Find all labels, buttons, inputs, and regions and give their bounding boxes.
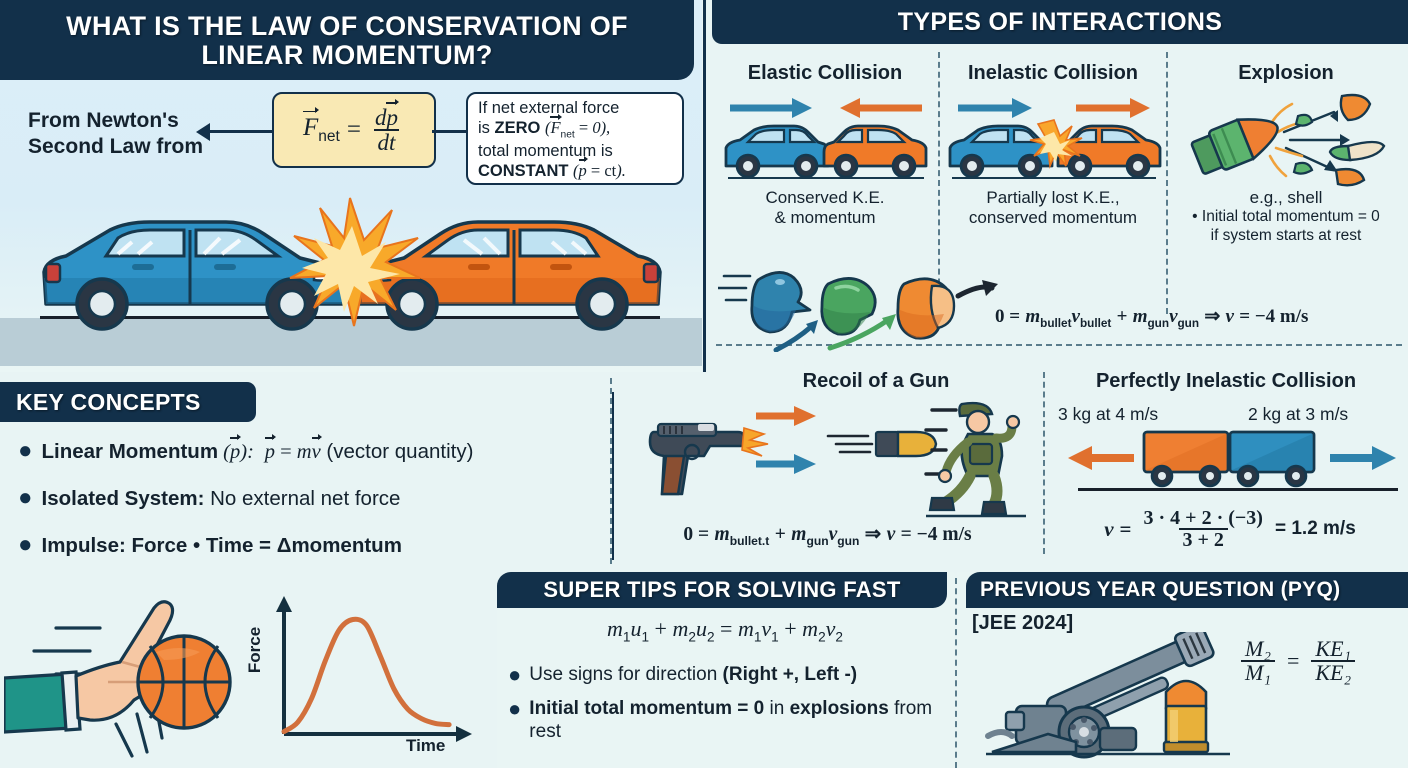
pie-denominator: 3 + 2 xyxy=(1179,528,1228,550)
pyq-lhs-num: M₂ xyxy=(1241,638,1275,660)
two-cars-colliding-icon xyxy=(946,96,1162,182)
newton-arrow-shaft xyxy=(205,130,273,133)
vertical-divider-recoil xyxy=(1043,372,1045,554)
callout-line2: is ZERO (Fnet = 0), xyxy=(478,118,672,141)
callout-p-math: (p = ct). xyxy=(573,161,626,180)
head-on-collision-illustration xyxy=(14,186,690,336)
newton-arrow-head-icon xyxy=(196,123,210,141)
pyq-rhs-den: KE₂ xyxy=(1311,660,1355,684)
cannon-and-shell-illustration xyxy=(980,632,1236,764)
pistol-icon xyxy=(650,424,768,494)
pie-result: = 1.2 m/s xyxy=(1275,518,1356,540)
arrow-left-orange-icon xyxy=(1068,446,1134,470)
chart-ylabel: Force xyxy=(245,627,265,673)
arrow-right-blue-icon xyxy=(1330,446,1396,470)
arrow-right-blue-icon xyxy=(756,454,816,474)
from-newton-label: From Newton's Second Law from xyxy=(28,108,243,161)
perfectly-inelastic-left-label: 3 kg at 4 m/s xyxy=(1058,404,1158,425)
arrow-right-blue-icon xyxy=(958,98,1032,118)
vertical-divider-main xyxy=(703,0,706,372)
super-tip-item-1: ● Use signs for direction (Right +, Left… xyxy=(508,664,953,687)
bullet-icon xyxy=(876,432,936,456)
two-carts-colliding-icon xyxy=(1058,426,1406,492)
formula-fnet: Fnet xyxy=(303,114,340,146)
chart-xlabel: Time xyxy=(406,736,445,756)
perfectly-inelastic-equation: v= 3 · 4 + 2 · (−3) 3 + 2 = 1.2 m/s xyxy=(1060,508,1400,551)
bullet-dot-icon: ● xyxy=(18,533,33,557)
y-axis-arrow-icon xyxy=(276,596,292,612)
callout-line4: CONSTANT (p = ct). xyxy=(478,161,672,181)
pie-numerator: 3 · 4 + 2 · (−3) xyxy=(1140,508,1267,528)
formula-connector-line xyxy=(432,130,468,133)
zero-net-force-callout: If net external force is ZERO (Fnet = 0)… xyxy=(466,92,684,185)
page-title-line1: WHAT IS THE LAW OF CONSERVATION OF xyxy=(66,12,628,41)
recoil-of-gun-illustration xyxy=(640,398,1030,520)
page-title: WHAT IS THE LAW OF CONSERVATION OF LINEA… xyxy=(0,0,694,80)
pyq-rhs-num: KE₁ xyxy=(1311,638,1355,660)
column-heading-elastic: Elastic Collision xyxy=(716,62,934,85)
column-caption-inelastic: Partially lost K.E., conserved momentum xyxy=(944,188,1162,229)
vertical-divider-col2 xyxy=(1166,52,1168,314)
perfectly-inelastic-heading: Perfectly Inelastic Collision xyxy=(1050,370,1402,393)
bullet-dot-icon: ● xyxy=(18,439,33,463)
exploding-shell-icon xyxy=(1188,90,1388,188)
hand-catching-basketball-illustration xyxy=(4,596,242,766)
callout-line3: total momentum is xyxy=(478,142,672,161)
pyq-equation: M₂ M₁ = KE₁ KE₂ xyxy=(1238,638,1388,685)
arrow-right-orange-icon xyxy=(756,406,816,426)
pyq-lhs-den: M₁ xyxy=(1241,660,1275,684)
two-cars-approaching-icon xyxy=(718,96,934,182)
column-caption-elastic: Conserved K.E. & momentum xyxy=(716,188,934,229)
shell-icon xyxy=(1164,681,1208,752)
arrow-left-orange-icon xyxy=(840,98,922,118)
callout-fnet-math: (Fnet = 0), xyxy=(545,118,610,137)
bullet-dot-icon: ● xyxy=(18,486,33,510)
vertical-divider-middle xyxy=(612,392,614,560)
column-heading-inelastic: Inelastic Collision xyxy=(944,62,1162,85)
bullet-dot-icon: ● xyxy=(508,664,521,686)
key-concept-item-2: ● Isolated System: No external net force xyxy=(18,487,608,512)
key-concepts-title: KEY CONCEPTS xyxy=(0,382,256,422)
from-newton-line2: Second Law from xyxy=(28,134,243,160)
newton-second-law-formula-box: Fnet = dp dt xyxy=(272,92,436,168)
key-concept-item-1: ● Linear Momentum (p): p = mv (vector qu… xyxy=(18,440,608,465)
bullet-dot-icon: ● xyxy=(508,698,521,720)
force-time-plot xyxy=(248,594,488,768)
super-tips-equation: m1u1 + m2u2 = m1v1 + m2v2 xyxy=(505,616,945,644)
page-title-line2: LINEAR MOMENTUM? xyxy=(201,41,492,70)
recoil-heading: Recoil of a Gun xyxy=(716,370,1036,393)
callout-line1: If net external force xyxy=(478,99,672,118)
perfectly-inelastic-right-label: 2 kg at 3 m/s xyxy=(1248,404,1348,425)
vertical-divider-left-dashed xyxy=(610,378,612,564)
arrow-right-orange-icon xyxy=(1076,98,1150,118)
column-heading-explosion: Explosion xyxy=(1172,62,1400,85)
key-concept-math-1: p = mv xyxy=(260,441,321,463)
super-tip-item-2: ● Initial total momentum = 0 in explosio… xyxy=(508,698,943,744)
cart-ground-line xyxy=(1078,488,1398,491)
explosion-equation: 0 = mbulletvbullet + mgunvgun ⇒ v = −4 m… xyxy=(995,305,1395,330)
momentum-transfer-blobs-illustration xyxy=(718,262,998,352)
soldier-recoiling-icon xyxy=(926,403,1026,516)
key-concept-item-3: ● Impulse: Force • Time = Δmomentum xyxy=(18,534,608,559)
column-caption-explosion: e.g., shell • Initial total momentum = 0… xyxy=(1168,188,1404,246)
x-axis-arrow-icon xyxy=(456,726,472,742)
recoil-equation: 0 = mbullet.t + mgunvgun ⇒ v = −4 m/s xyxy=(620,522,1035,548)
super-tips-title: SUPER TIPS FOR SOLVING FAST xyxy=(497,572,947,608)
formula-dp-dt: dp dt xyxy=(371,106,402,155)
pyq-title: PREVIOUS YEAR QUESTION (PYQ) xyxy=(966,572,1408,608)
types-of-interactions-title: TYPES OF INTERACTIONS xyxy=(712,0,1408,44)
arrow-right-blue-icon xyxy=(730,98,812,118)
force-time-chart: Force Time xyxy=(248,594,488,768)
